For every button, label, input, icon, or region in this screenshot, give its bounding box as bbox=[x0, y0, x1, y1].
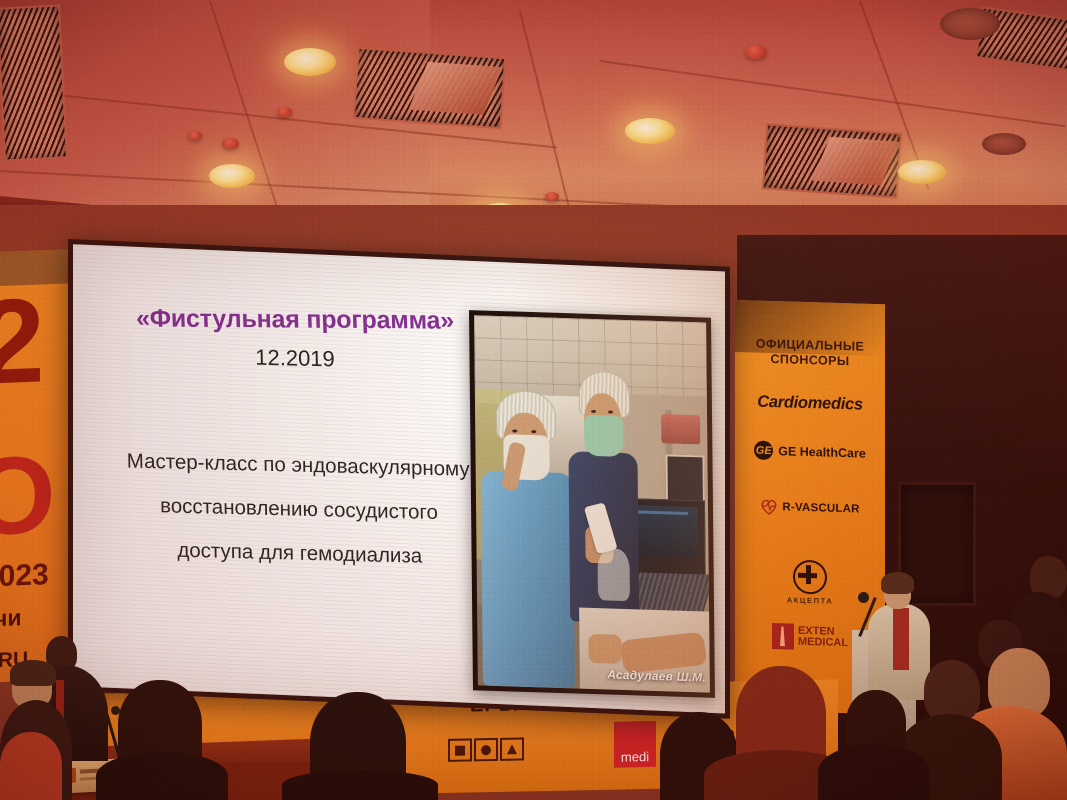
sponsor-logo-cardiomedics: Cardiomedics bbox=[735, 392, 885, 415]
smoke-detector-icon bbox=[277, 107, 292, 117]
sponsor-logo-r-vascular: R-VASCULAR bbox=[735, 498, 885, 518]
slide-body: Мастер-класс по эндоваскулярному восстан… bbox=[94, 439, 504, 581]
audience-shoulders bbox=[818, 744, 930, 800]
speaker-blouse bbox=[893, 608, 909, 670]
cardiomedics-label: Cardiomedics bbox=[757, 393, 863, 414]
smoke-detector-icon bbox=[188, 131, 202, 140]
podium-microphone-head-icon bbox=[858, 592, 869, 603]
left-event-banner: 2 O 2023 чи .RU bbox=[0, 249, 78, 682]
surgical-mask-icon bbox=[584, 415, 624, 457]
ceiling-light bbox=[209, 164, 255, 188]
conference-hall-photo: 2 O 2023 чи .RU ОФИЦИАЛЬНЫЕ СПОНСОРЫ Car… bbox=[0, 0, 1067, 800]
audience-head bbox=[0, 732, 62, 800]
audience-shoulders bbox=[96, 752, 228, 800]
projection-screen-frame: «Фистульная программа» 12.2019 Мастер-кл… bbox=[68, 239, 730, 719]
smoke-detector-icon bbox=[222, 138, 239, 149]
ceiling-seam bbox=[600, 60, 1066, 127]
ge-monogram-icon: GE bbox=[754, 441, 773, 461]
ceiling-light bbox=[625, 118, 675, 144]
sponsor-logo-medi: medi bbox=[614, 721, 656, 768]
audience-shoulders bbox=[282, 770, 438, 800]
exten-label-line2: MEDICAL bbox=[798, 637, 848, 649]
ceiling-vent-icon bbox=[353, 47, 507, 129]
ge-healthcare-label: GE HealthCare bbox=[778, 444, 866, 460]
ceiling-light-off bbox=[982, 133, 1026, 155]
akcepta-label: АКЦЕПТА bbox=[787, 595, 834, 605]
left-banner-glyph-top: 2 bbox=[0, 280, 45, 403]
left-banner-year: 2023 bbox=[0, 560, 49, 593]
r-vascular-label: R-VASCULAR bbox=[782, 501, 859, 515]
slide-body-line-3: доступа для гемодиализа bbox=[95, 527, 504, 581]
photo-clinician-hand bbox=[589, 633, 622, 664]
slide-photo: Асадулаев Ш.М. bbox=[469, 310, 715, 698]
projection-screen: «Фистульная программа» 12.2019 Мастер-кл… bbox=[73, 244, 725, 713]
r-vascular-heart-icon bbox=[760, 499, 778, 516]
ceiling-light bbox=[898, 160, 946, 184]
sponsors-heading: ОФИЦИАЛЬНЫЕ СПОНСОРЫ bbox=[735, 336, 885, 370]
ceiling-light-off bbox=[940, 8, 1000, 40]
exten-medical-figure-icon bbox=[772, 623, 794, 650]
akcepta-cross-icon bbox=[793, 560, 827, 595]
photo-glove-package bbox=[597, 549, 630, 602]
ceiling-light bbox=[284, 48, 336, 76]
sponsor-logo-iag bbox=[448, 737, 524, 761]
ceiling-vent-icon bbox=[762, 123, 902, 198]
audience-head bbox=[924, 660, 980, 722]
left-banner-glyph-mid: O bbox=[0, 440, 56, 553]
ceiling-vent-icon bbox=[0, 4, 68, 161]
slide-title: «Фистульная программа» bbox=[109, 304, 482, 336]
operating-room-photo: Асадулаев Ш.М. bbox=[474, 315, 710, 692]
slide-date: 12.2019 bbox=[109, 342, 481, 376]
smoke-detector-icon bbox=[545, 192, 559, 201]
speaker-hair bbox=[881, 572, 914, 594]
left-banner-city: чи bbox=[0, 606, 22, 630]
smoke-detector-icon bbox=[745, 45, 767, 59]
panel-member-hair bbox=[10, 660, 56, 686]
sponsor-logo-ge-healthcare: GE GE HealthCare bbox=[735, 440, 885, 463]
